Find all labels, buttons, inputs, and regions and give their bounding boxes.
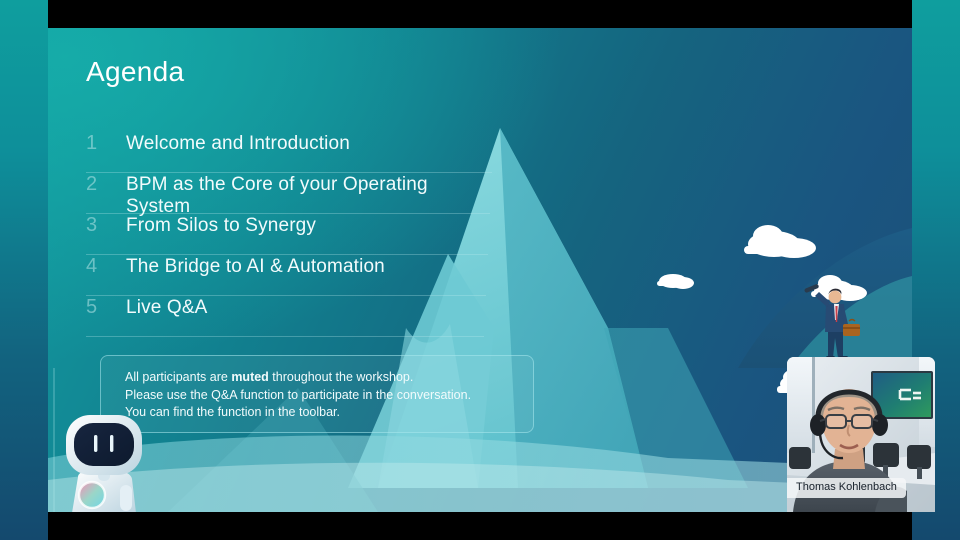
agenda-item-2: 2 BPM as the Core of your Operating Syst… <box>86 173 490 214</box>
agenda-label: Welcome and Introduction <box>126 133 350 155</box>
presentation-window: Agenda 1 Welcome and Introduction 2 BPM … <box>0 0 960 540</box>
agenda-item-3: 3 From Silos to Synergy <box>86 214 488 255</box>
slide-title: Agenda <box>86 56 184 88</box>
agenda-label: BPM as the Core of your Operating System <box>126 174 490 218</box>
letterbox-top <box>48 0 912 28</box>
agenda-item-5: 5 Live Q&A <box>86 296 484 337</box>
note-line-2: Please use the Q&A function to participa… <box>125 387 533 405</box>
letterbox-bottom <box>48 512 912 540</box>
participant-name-label: Thomas Kohlenbach <box>787 478 906 498</box>
agenda-number: 4 <box>86 255 126 278</box>
agenda-label: From Silos to Synergy <box>126 215 316 237</box>
note-line-3: You can find the function in the toolbar… <box>125 404 533 422</box>
note-line-1-pre: All participants are <box>125 370 231 384</box>
housekeeping-note-box: All participants are muted throughout th… <box>100 355 534 433</box>
agenda-number: 3 <box>86 214 126 237</box>
webcam-tile[interactable]: Thomas Kohlenbach <box>787 357 935 512</box>
agenda-number: 5 <box>86 296 126 319</box>
robot-mascot-icon <box>52 403 156 512</box>
slide-canvas: Agenda 1 Welcome and Introduction 2 BPM … <box>48 28 912 512</box>
agenda-label: Live Q&A <box>126 297 207 319</box>
note-line-1: All participants are muted throughout th… <box>125 369 533 387</box>
agenda-list: 1 Welcome and Introduction 2 BPM as the … <box>86 132 536 337</box>
businessman-figure <box>804 284 860 360</box>
agenda-number: 2 <box>86 173 126 196</box>
agenda-label: The Bridge to AI & Automation <box>126 256 385 278</box>
note-line-1-post: throughout the workshop. <box>269 370 414 384</box>
agenda-item-1: 1 Welcome and Introduction <box>86 132 492 173</box>
note-line-1-emphasis: muted <box>231 370 269 384</box>
agenda-number: 1 <box>86 132 126 155</box>
agenda-item-4: 4 The Bridge to AI & Automation <box>86 255 486 296</box>
window-left-border <box>0 0 48 540</box>
